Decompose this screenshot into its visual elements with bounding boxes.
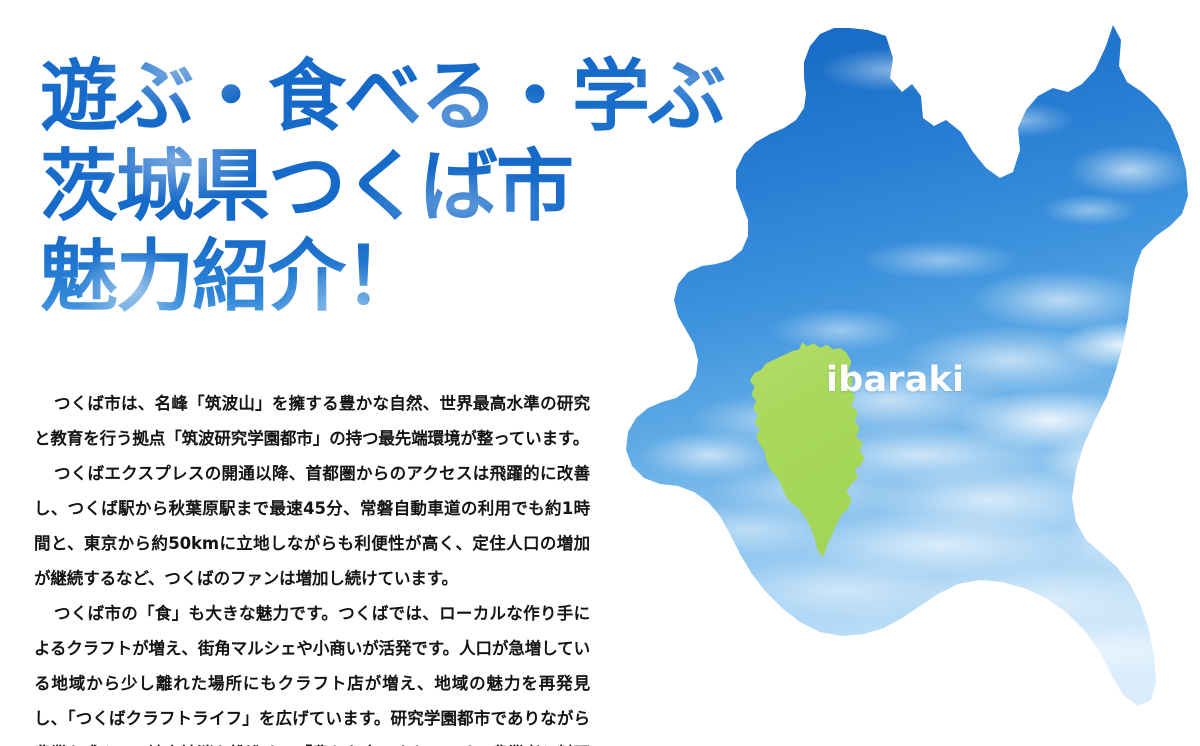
ibaraki-region-label: ibaraki bbox=[826, 360, 964, 400]
headline-line-1: 遊ぶ・食べる・学ぶ bbox=[40, 52, 800, 142]
paragraph-nature-research: つくば市は、名峰「筑波山」を擁する豊かな自然、世界最高水準の研究と教育を行う拠点… bbox=[34, 386, 590, 456]
headline-line-2: 茨城県つくば市 bbox=[40, 142, 800, 232]
paragraph-food-craft: つくば市の「食」も大きな魅力です。つくばでは、ローカルな作り手によるクラフトが増… bbox=[34, 596, 590, 746]
paragraph-access: つくばエクスプレスの開通以降、首都圏からのアクセスは飛躍的に改善し、つくば駅から… bbox=[34, 456, 590, 596]
page-title: 遊ぶ・食べる・学ぶ 茨城県つくば市 魅力紹介！ bbox=[40, 52, 800, 322]
promo-poster: ibaraki 遊ぶ・食べる・学ぶ 茨城県つくば市 魅力紹介！ つくば市は、名峰… bbox=[0, 0, 1200, 746]
headline-line-3: 魅力紹介！ bbox=[40, 232, 800, 322]
body-copy: つくば市は、名峰「筑波山」を擁する豊かな自然、世界最高水準の研究と教育を行う拠点… bbox=[34, 386, 590, 746]
